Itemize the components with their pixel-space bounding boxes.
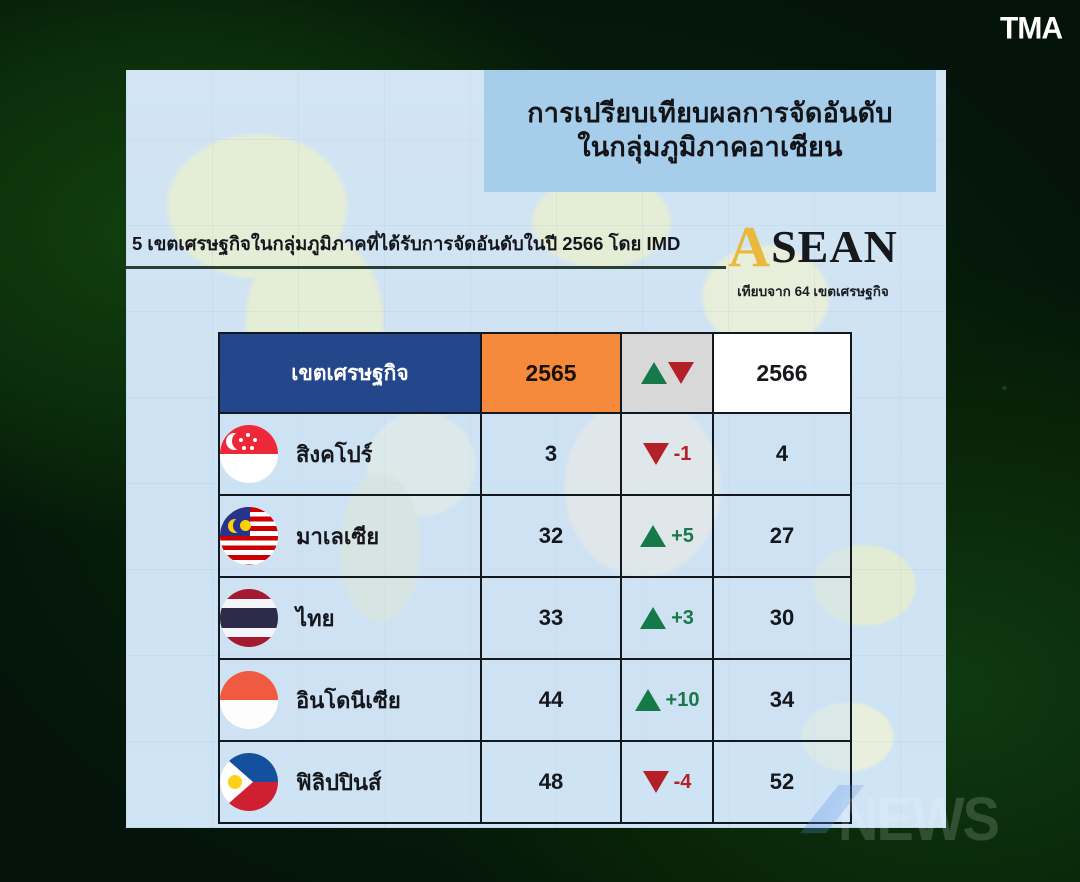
page-title-line2: ในกลุ่มภูมิภาคอาเซียน <box>577 132 842 164</box>
cell-rank-change: +5 <box>621 495 713 577</box>
cell-rank-2566: 4 <box>713 413 851 495</box>
cell-rank-change: +3 <box>621 577 713 659</box>
change-value: -1 <box>674 443 692 466</box>
triangle-up-icon <box>640 525 666 547</box>
cell-rank-2566: 30 <box>713 577 851 659</box>
asean-caption: เทียบจาก 64 เขตเศรษฐกิจ <box>708 280 918 302</box>
ranking-table: เขตเศรษฐกิจ 2565 2566 <box>218 332 852 824</box>
change-value: -4 <box>674 771 692 794</box>
column-header-year-2566: 2566 <box>713 333 851 413</box>
tma-logo: TMA <box>1000 11 1062 47</box>
cell-rank-2565: 44 <box>481 659 621 741</box>
table-row: สิงคโปร์ 3 -1 4 <box>219 413 851 495</box>
subtitle-text: 5 เขตเศรษฐกิจในกลุ่มภูมิภาคที่ได้รับการจ… <box>132 230 680 259</box>
philippines-flag-icon <box>220 753 278 811</box>
triangle-up-icon <box>641 362 667 384</box>
triangle-up-icon <box>640 607 666 629</box>
cell-rank-2565: 48 <box>481 741 621 823</box>
cell-economy: สิงคโปร์ <box>219 413 481 495</box>
change-value: +3 <box>671 607 694 630</box>
triangle-down-icon <box>643 771 669 793</box>
screenshot-stage: TMA การเปรียบเทียบผลการจัดอันดับ ในกลุ่ม… <box>0 0 1080 882</box>
triangle-down-icon <box>668 362 694 384</box>
cell-economy: มาเลเซีย <box>219 495 481 577</box>
indonesia-flag-icon <box>220 671 278 729</box>
economy-name: ฟิลิปปินส์ <box>296 765 381 800</box>
cell-rank-2566: 34 <box>713 659 851 741</box>
table-header-row: เขตเศรษฐกิจ 2565 2566 <box>219 333 851 413</box>
infographic-card: การเปรียบเทียบผลการจัดอันดับ ในกลุ่มภูมิ… <box>126 70 946 828</box>
cell-rank-2565: 33 <box>481 577 621 659</box>
triangle-up-icon <box>635 689 661 711</box>
cell-rank-2566: 27 <box>713 495 851 577</box>
column-header-economy: เขตเศรษฐกิจ <box>219 333 481 413</box>
cell-economy: ฟิลิปปินส์ <box>219 741 481 823</box>
page-title-line1: การเปรียบเทียบผลการจัดอันดับ <box>527 98 893 130</box>
column-header-change <box>621 333 713 413</box>
change-value: +5 <box>671 525 694 548</box>
table-row: มาเลเซีย 32 +5 27 <box>219 495 851 577</box>
title-band: การเปรียบเทียบผลการจัดอันดับ ในกลุ่มภูมิ… <box>484 70 936 192</box>
thailand-flag-icon <box>220 589 278 647</box>
column-header-year-2565: 2565 <box>481 333 621 413</box>
cell-rank-change: -1 <box>621 413 713 495</box>
economy-name: ไทย <box>296 601 334 636</box>
singapore-flag-icon <box>220 425 278 483</box>
cell-economy: ไทย <box>219 577 481 659</box>
cell-rank-2566: 52 <box>713 741 851 823</box>
asean-rest-letters: SEAN <box>771 221 898 272</box>
asean-logo: ASEAN เทียบจาก 64 เขตเศรษฐกิจ <box>708 218 918 302</box>
cell-rank-2565: 3 <box>481 413 621 495</box>
asean-initial-letter: A <box>728 214 771 279</box>
economy-name: อินโดนีเซีย <box>296 683 401 718</box>
table-body: สิงคโปร์ 3 -1 4 <box>219 413 851 823</box>
subtitle-divider <box>126 266 726 269</box>
cell-rank-change: -4 <box>621 741 713 823</box>
cell-economy: อินโดนีเซีย <box>219 659 481 741</box>
economy-name: สิงคโปร์ <box>296 437 372 472</box>
cell-rank-2565: 32 <box>481 495 621 577</box>
triangle-down-icon <box>643 443 669 465</box>
table-row: ฟิลิปปินส์ 48 -4 52 <box>219 741 851 823</box>
table-row: อินโดนีเซีย 44 +10 34 <box>219 659 851 741</box>
asean-wordmark: ASEAN <box>708 218 918 276</box>
change-value: +10 <box>666 689 700 712</box>
table-row: ไทย 33 +3 30 <box>219 577 851 659</box>
malaysia-flag-icon <box>220 507 278 565</box>
economy-name: มาเลเซีย <box>296 519 379 554</box>
cell-rank-change: +10 <box>621 659 713 741</box>
